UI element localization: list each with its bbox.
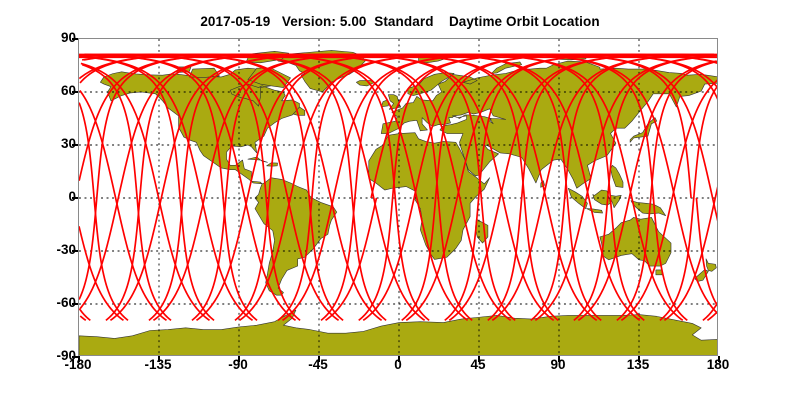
page-title: 2017-05-19 Version: 5.00 Standard Daytim… <box>0 14 800 29</box>
xtick-mark--180 <box>78 356 80 362</box>
ytick-label--30: -30 <box>16 243 76 257</box>
land-layer <box>79 50 718 356</box>
ytick-mark-60 <box>72 91 78 93</box>
ytick-mark--60 <box>72 303 78 305</box>
xtick-mark--135 <box>158 356 160 362</box>
orbit-track-0-asc-1 <box>79 226 123 320</box>
ytick-label-0: 0 <box>16 190 76 204</box>
orbit-track-14-desc-0 <box>696 198 718 307</box>
xtick-mark-45 <box>478 356 480 362</box>
orbit-track-8-asc-3 <box>715 182 718 198</box>
ytick-mark-90 <box>72 38 78 40</box>
xtick-mark-90 <box>558 356 560 362</box>
orbit-track-10-asc-0 <box>153 198 204 320</box>
landmass-java <box>587 209 603 213</box>
ytick-label-90: 90 <box>16 31 76 45</box>
landmass-philippines <box>611 165 623 187</box>
orbit-track-3-desc-0 <box>223 198 257 320</box>
ytick-label-30: 30 <box>16 137 76 151</box>
orbit-location-figure: 2017-05-19 Version: 5.00 Standard Daytim… <box>0 0 800 400</box>
ytick-mark-0 <box>72 197 78 199</box>
orbit-track-11-asc-0 <box>196 198 247 320</box>
ytick-mark-30 <box>72 144 78 146</box>
orbit-track-0-desc-0 <box>94 198 128 320</box>
world-map-svg <box>79 39 718 356</box>
landmass-tasmania <box>656 270 662 275</box>
xtick-mark--45 <box>318 356 320 362</box>
orbit-track-1-desc-0 <box>137 198 171 320</box>
landmass-sulawesi <box>611 195 622 207</box>
xtick-mark-180 <box>718 356 720 362</box>
ytick-label--60: -60 <box>16 296 76 310</box>
ytick-mark--30 <box>72 250 78 252</box>
xtick-mark--90 <box>238 356 240 362</box>
xtick-mark-135 <box>638 356 640 362</box>
orbit-track-2-desc-0 <box>180 198 214 320</box>
ytick-label-60: 60 <box>16 84 76 98</box>
landmass-antarctica <box>79 310 718 356</box>
orbit-track-9-asc-0 <box>110 198 161 320</box>
landmass-cuba <box>248 157 268 162</box>
xtick-mark-0 <box>398 356 400 362</box>
landmass-new-zealand-n <box>706 259 716 272</box>
map-plot-area <box>78 38 718 356</box>
